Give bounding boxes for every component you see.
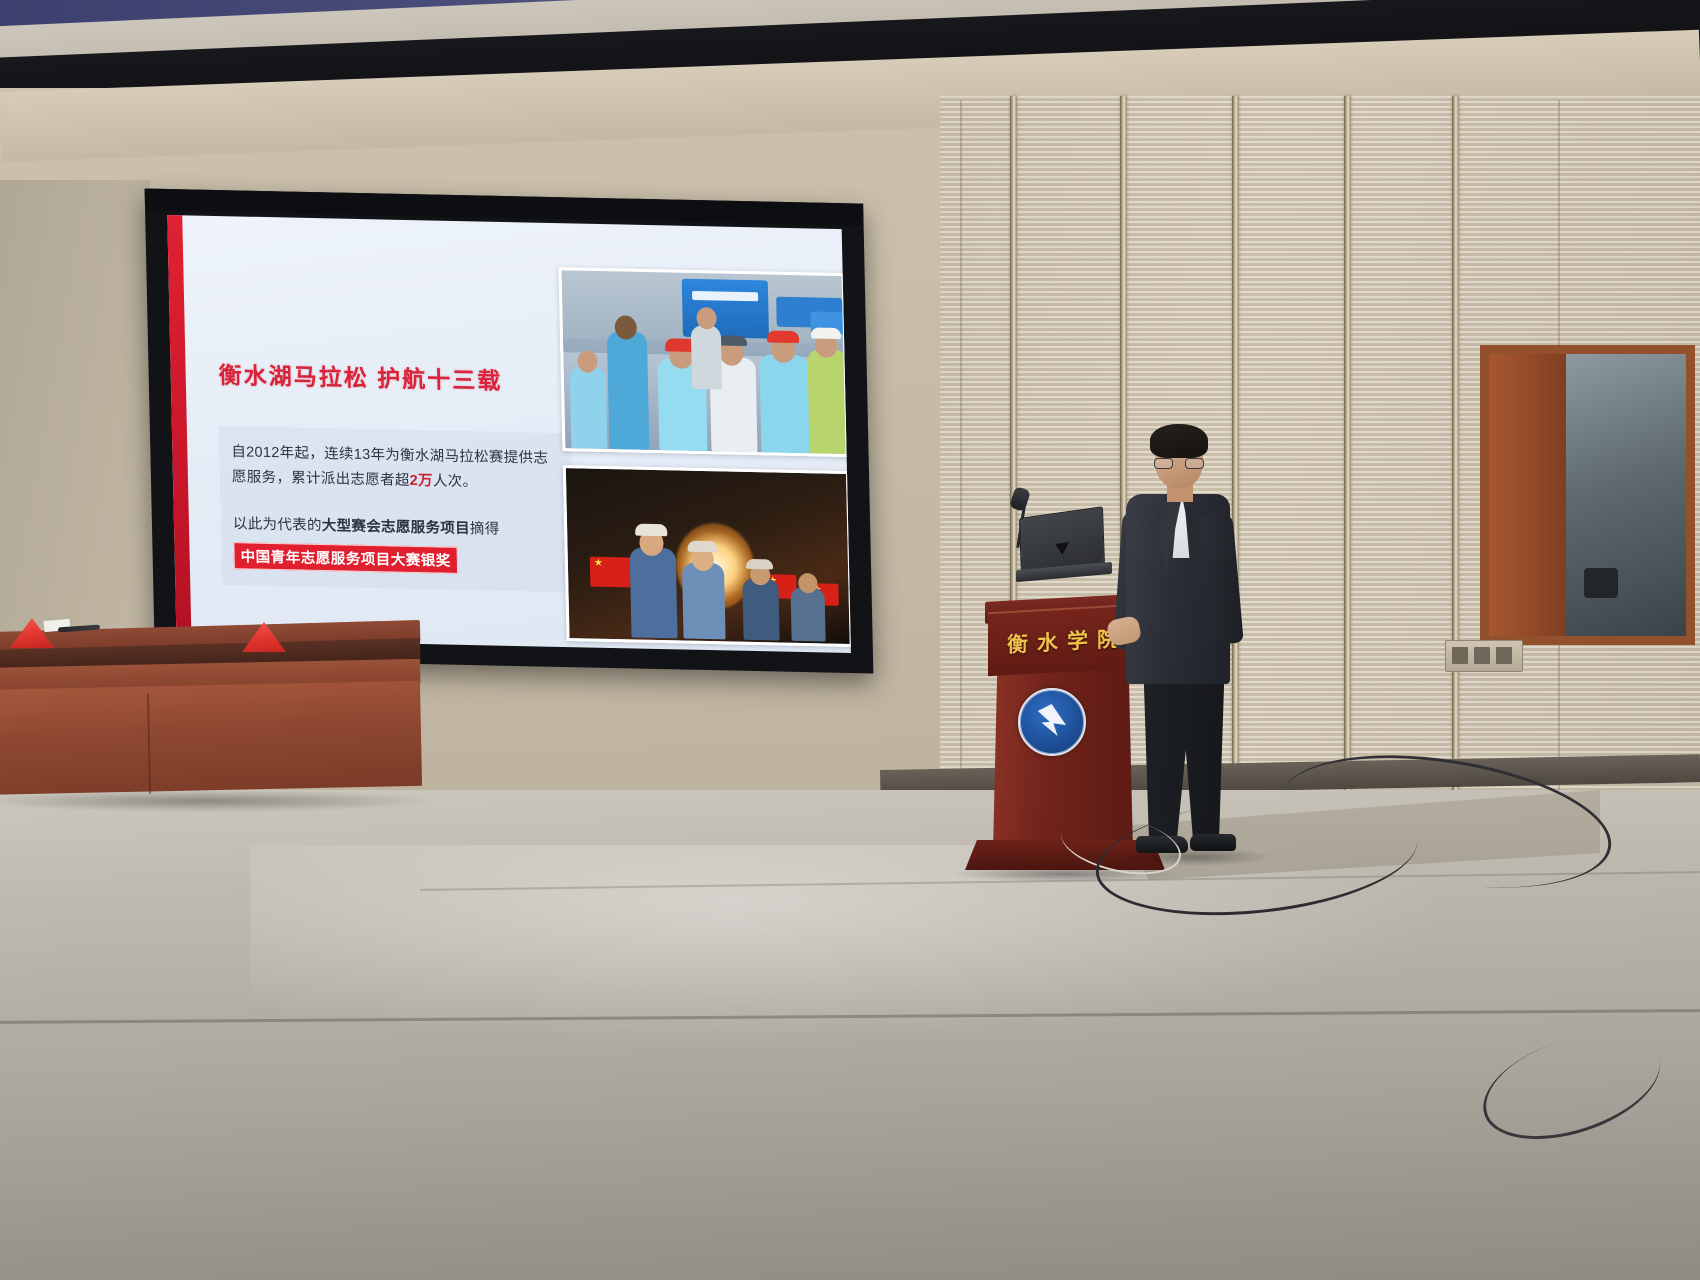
glasses-lens: [1185, 458, 1204, 469]
slide-body-text: 自2012年起，连续13年为衡水湖马拉松赛提供志愿服务，累计派出志愿者超2万人次…: [219, 426, 575, 592]
outlet-socket: [1474, 647, 1490, 664]
photo-red-cap: [767, 330, 799, 343]
photo-volunteer-head: [615, 315, 638, 339]
paragraph-two-suffix: 摘得: [470, 521, 500, 538]
photo-white-cap: [811, 327, 841, 339]
sunset-volunteers-photo: [563, 465, 851, 647]
photo-volunteer: [607, 331, 650, 450]
photo-spectator: [807, 349, 848, 454]
photo-runner-head: [696, 307, 716, 329]
front-table-panel: [0, 681, 422, 795]
photo-red-flag: [590, 557, 633, 588]
photo-white-cap: [687, 541, 717, 553]
slide-accent-bar: [167, 215, 191, 639]
emblem-ring: [1020, 690, 1084, 754]
glasses-lens: [1154, 458, 1173, 469]
speaker-hair: [1150, 424, 1208, 458]
photo-volunteer: [759, 354, 809, 453]
wall-gold-strip: [1452, 96, 1459, 796]
speaker-glasses-icon: [1154, 458, 1204, 469]
photo-volunteer-head: [798, 573, 817, 593]
photo-volunteer: [742, 578, 779, 641]
paragraph-one-prefix: 自2012年起，连续13年为衡水湖马拉松赛提供志愿服务，累计派出志愿者超: [231, 444, 548, 489]
wall-panel-seam: [960, 100, 962, 790]
table-shadow: [0, 790, 430, 812]
control-room-window: [1480, 345, 1695, 645]
outlet-socket: [1452, 647, 1468, 664]
slide-title: 衡水湖马拉松 护航十三载: [218, 356, 502, 396]
power-outlet[interactable]: [1445, 640, 1523, 672]
photo-volunteer-head: [577, 350, 597, 372]
photo-visor: [717, 335, 747, 346]
award-badge: 中国青年志愿服务项目大赛银奖: [233, 542, 458, 574]
lecture-hall-scene: 衡水湖马拉松 护航十三载 自2012年起，连续13年为衡水湖马拉松赛提供志愿服务…: [0, 0, 1700, 1280]
photo-volunteer: [682, 563, 726, 640]
paragraph-one-suffix: 人次。: [433, 473, 478, 490]
slide-paragraph-two: 以此为代表的大型赛会志愿服务项目摘得: [233, 512, 564, 544]
wall-gold-strip: [1232, 96, 1239, 796]
paragraph-two-bold: 大型赛会志愿服务项目: [322, 518, 470, 537]
photo-volunteer: [790, 587, 825, 642]
slide-paragraph-one: 自2012年起，连续13年为衡水湖马拉松赛提供志愿服务，累计派出志愿者超2万人次…: [231, 440, 562, 497]
paragraph-two-prefix: 以此为代表的: [233, 516, 322, 534]
wall-gold-strip: [1344, 96, 1351, 796]
outlet-socket: [1496, 647, 1512, 664]
photo-volunteer: [630, 547, 678, 638]
projection-screen[interactable]: 衡水湖马拉松 护航十三载 自2012年起，连续13年为衡水湖马拉松赛提供志愿服务…: [145, 189, 874, 674]
photo-volunteer: [570, 366, 608, 449]
photo-white-cap: [746, 559, 773, 570]
wall-left-section: [0, 180, 150, 700]
paragraph-one-highlight: 2万: [409, 473, 433, 489]
window-glass: [1566, 354, 1686, 636]
marathon-volunteers-photo: [558, 267, 848, 457]
photo-white-cap: [635, 524, 667, 537]
presentation-slide: 衡水湖马拉松 护航十三载 自2012年起，连续13年为衡水湖马拉松赛提供志愿服务…: [167, 215, 851, 653]
hengshui-university-emblem-icon: [1018, 688, 1086, 756]
photo-runner: [691, 325, 722, 390]
